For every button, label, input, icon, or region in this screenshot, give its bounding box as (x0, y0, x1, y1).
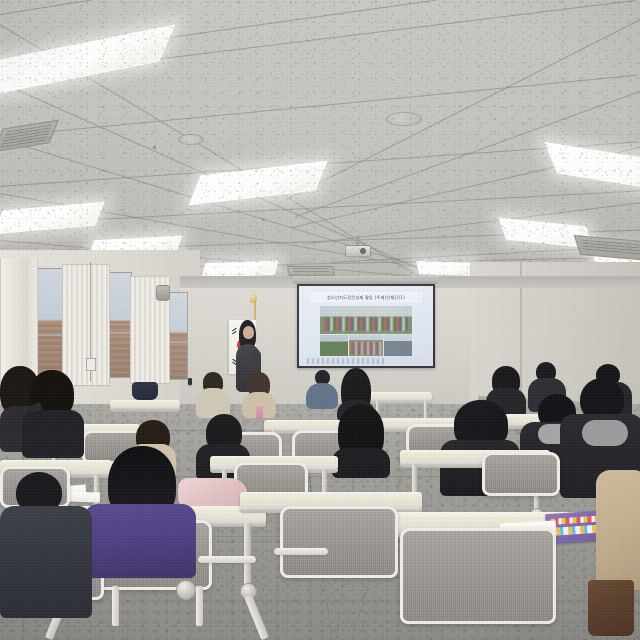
ac-vent (0, 120, 59, 153)
window (168, 292, 188, 380)
ceiling (0, 0, 640, 288)
ceiling-light-panel (0, 202, 105, 234)
desk-leg (244, 523, 251, 587)
projector-icon (345, 236, 369, 260)
chair[interactable] (400, 528, 556, 624)
classroom-photo: 청소년지도전문실제 활동 (주제)인재단(1) (0, 0, 640, 640)
audience-member (196, 372, 230, 414)
sprinkler-icon (262, 218, 265, 221)
light-switch[interactable] (86, 358, 96, 371)
smoke-detector-icon (386, 112, 422, 126)
handbag[interactable] (588, 580, 634, 636)
head (243, 326, 254, 339)
chair-post (112, 586, 119, 626)
torso (0, 506, 92, 618)
window (36, 268, 64, 382)
ac-vent (287, 266, 335, 276)
ceiling-light-panel (0, 24, 175, 101)
torso (332, 448, 390, 478)
torso (596, 470, 640, 590)
audience-member (332, 404, 390, 474)
slide-title-text: 청소년지도전문실제 활동 (주제)인재단(1) (327, 295, 405, 301)
slide-photo (349, 335, 383, 355)
slide-photo (320, 306, 411, 334)
chair-armrest (274, 548, 328, 555)
audience-member (306, 370, 338, 406)
screen-roller (293, 276, 439, 284)
backpack[interactable] (132, 382, 158, 400)
ceiling-light-panel (545, 142, 640, 194)
ceiling-light-panel (188, 161, 327, 205)
window (108, 272, 132, 378)
slide-photo (320, 335, 347, 355)
audience-member (84, 446, 196, 574)
slide-title: 청소년지도전문실제 활동 (주제)인재단(1) (310, 292, 423, 302)
sprinkler-icon (153, 146, 156, 149)
ceiling-light-panel (416, 261, 477, 276)
wall-speaker-icon (156, 285, 170, 301)
projection-screen: 청소년지도전문실제 활동 (주제)인재단(1) (297, 284, 435, 368)
audience-member (596, 470, 640, 590)
chair-armrest (198, 556, 256, 563)
caster-wheel (176, 580, 196, 600)
slide-photo-grid (320, 306, 411, 356)
water-bottle[interactable] (256, 406, 263, 420)
ac-vent (574, 235, 640, 261)
torso (84, 504, 196, 578)
slide-footer (307, 358, 387, 364)
hood (582, 420, 628, 446)
smartphone[interactable] (188, 378, 192, 385)
desk (110, 400, 180, 409)
chair-post (196, 586, 203, 626)
chair[interactable] (482, 452, 560, 496)
chair[interactable] (280, 506, 398, 578)
torso (22, 410, 84, 458)
smoke-detector-icon (178, 134, 204, 145)
slide-photo (384, 335, 411, 355)
ceiling-light-panel (202, 261, 279, 278)
audience-member (0, 472, 92, 614)
desk (370, 392, 432, 401)
